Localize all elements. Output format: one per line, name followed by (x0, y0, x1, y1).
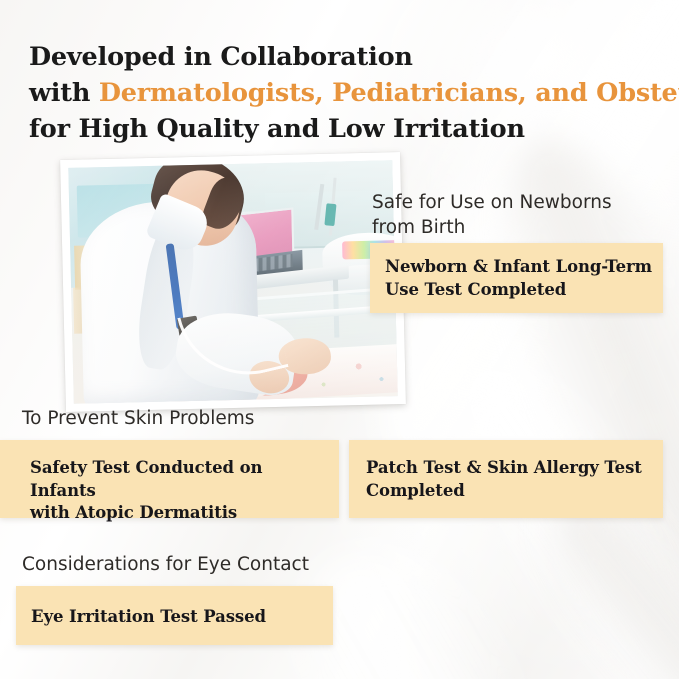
headline-line-2-prefix: with (29, 78, 99, 108)
claim-text-newborn: Newborn & Infant Long-Term Use Test Comp… (385, 256, 657, 301)
clinic-photo-frame (60, 152, 406, 412)
section-label-newborns: Safe for Use on Newborns from Birth (372, 190, 612, 240)
headline-line-2: with Dermatologists, Pediatricians, and … (29, 75, 669, 111)
photo-glare (68, 160, 397, 404)
section-label-eye-contact: Considerations for Eye Contact (22, 552, 309, 577)
headline-accent-text: Dermatologists, Pediatricians, and Obste… (99, 78, 679, 108)
page-title: Developed in Collaboration with Dermatol… (29, 39, 669, 147)
claim-text-atopic-dermatitis: Safety Test Conducted on Infants with At… (30, 457, 332, 525)
headline-line-1: Developed in Collaboration (29, 39, 669, 75)
infographic-panel: Developed in Collaboration with Dermatol… (0, 0, 679, 679)
headline-line-3: for High Quality and Low Irritation (29, 111, 669, 147)
clinic-photo (68, 160, 397, 404)
claim-text-patch-test: Patch Test & Skin Allergy Test Completed (366, 457, 656, 502)
section-label-skin-problems: To Prevent Skin Problems (22, 406, 254, 431)
claim-text-eye-irritation: Eye Irritation Test Passed (31, 606, 321, 629)
